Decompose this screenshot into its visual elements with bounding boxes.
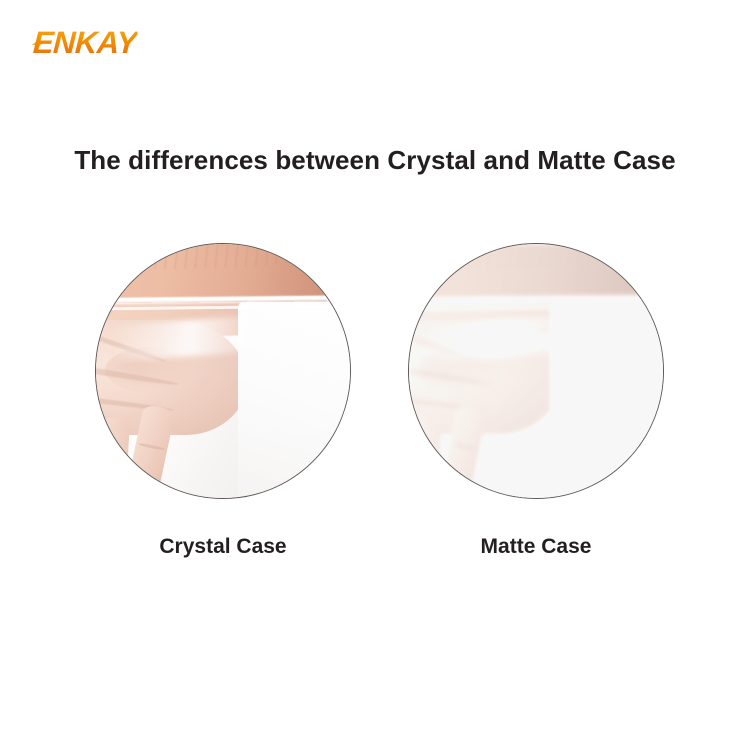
caption-matte-case: Matte Case — [408, 535, 664, 559]
comparison-row — [0, 243, 750, 503]
comparison-item-crystal — [95, 243, 351, 499]
forearm-skin-lines — [96, 244, 320, 269]
matte-scene — [409, 244, 663, 498]
matte-case-photo — [408, 243, 664, 499]
page-title: The differences between Crystal and Matt… — [0, 145, 750, 176]
caption-crystal-case: Crystal Case — [95, 535, 351, 559]
comparison-item-matte — [408, 243, 664, 499]
forearm-skin-lines — [409, 244, 633, 269]
crystal-scene — [96, 244, 350, 498]
crystal-case-photo — [95, 243, 351, 499]
brand-logo-text: ENKAY — [32, 27, 137, 58]
